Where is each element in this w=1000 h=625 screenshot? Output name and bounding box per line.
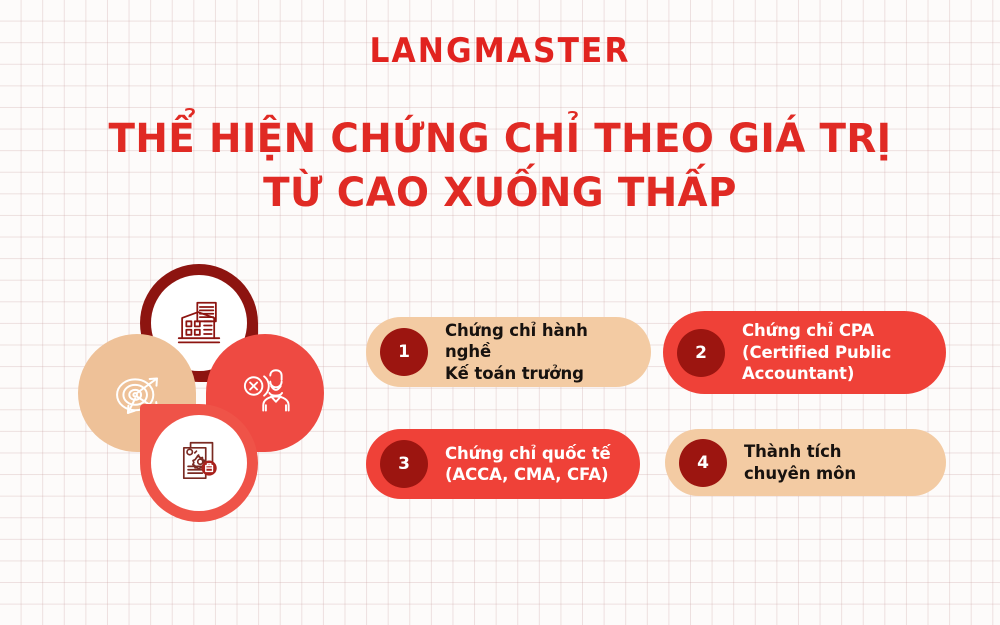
item-label-line-2: (Certified Public — [742, 343, 891, 362]
item-label-line-1: Chứng chỉ quốc tế — [445, 444, 611, 463]
infographic-canvas: LANGMASTER THỂ HIỆN CHỨNG CHỈ THEO GIÁ T… — [0, 0, 1000, 625]
item-number-badge: 2 — [677, 329, 725, 377]
list-item[interactable]: 2 Chứng chỉ CPA (Certified Public Accoun… — [663, 311, 946, 394]
item-label: Chứng chỉ quốc tế (ACCA, CMA, CFA) — [445, 443, 611, 486]
list-item[interactable]: 1 Chứng chỉ hành nghề Kế toán trưởng — [366, 317, 651, 387]
page-title-line-1: THỂ HIỆN CHỨNG CHỈ THEO GIÁ TRỊ — [108, 116, 891, 162]
page-title: THỂ HIỆN CHỨNG CHỈ THEO GIÁ TRỊ TỪ CAO X… — [15, 112, 985, 221]
pin-document — [140, 404, 258, 522]
item-label-line-2: (ACCA, CMA, CFA) — [445, 465, 608, 484]
item-label: Chứng chỉ CPA (Certified Public Accounta… — [742, 320, 891, 384]
item-label-line-1: Chứng chỉ CPA — [742, 321, 874, 340]
item-label-line-2: Kế toán trưởng — [445, 364, 584, 383]
icon-cluster — [78, 262, 368, 552]
certificate-document-icon — [170, 434, 228, 492]
page-title-line-2: TỪ CAO XUỐNG THẤP — [15, 166, 985, 220]
langmaster-logo: LANGMASTER — [40, 34, 960, 68]
item-label-line-2: chuyên môn — [744, 464, 856, 483]
item-label: Chứng chỉ hành nghề Kế toán trưởng — [445, 320, 637, 384]
list-item[interactable]: 3 Chứng chỉ quốc tế (ACCA, CMA, CFA) — [366, 429, 640, 499]
pin-document-inner — [151, 415, 247, 511]
item-label-line-1: Thành tích — [744, 442, 841, 461]
item-label-line-3: Accountant) — [742, 364, 854, 383]
item-label: Thành tích chuyên môn — [744, 441, 856, 484]
item-label-line-1: Chứng chỉ hành nghề — [445, 321, 588, 361]
item-number-badge: 4 — [679, 439, 727, 487]
item-number-badge: 3 — [380, 440, 428, 488]
item-number-badge: 1 — [380, 328, 428, 376]
list-item[interactable]: 4 Thành tích chuyên môn — [665, 429, 946, 496]
